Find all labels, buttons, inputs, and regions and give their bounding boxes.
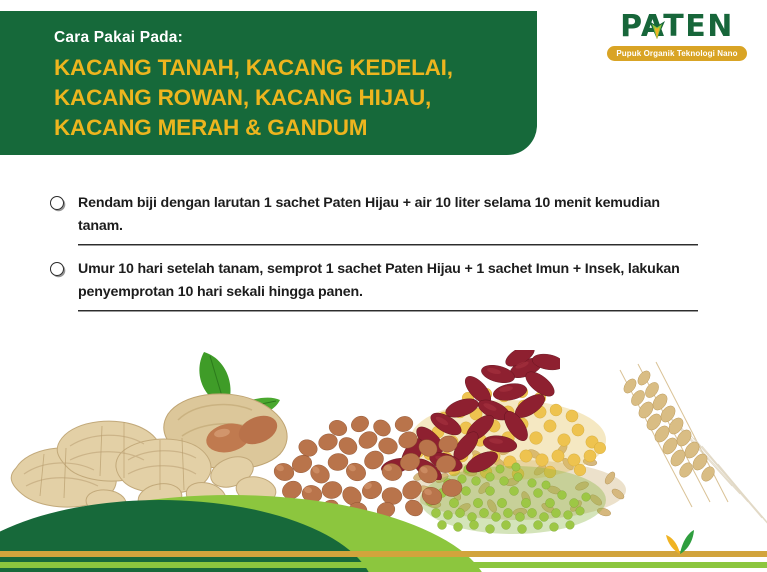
list-item-text: Rendam biji dengan larutan 1 sachet Pate… [78,192,700,238]
sprout-icon [665,528,695,554]
header-panel: Cara Pakai Pada: KACANG TANAH, KACANG KE… [0,11,537,155]
logo-wordmark: PATEN [607,12,747,42]
slide-canvas: Cara Pakai Pada: KACANG TANAH, KACANG KE… [0,0,767,572]
page-title: KACANG TANAH, KACANG KEDELAI, KACANG ROW… [54,53,537,144]
header-kicker: Cara Pakai Pada: [54,29,537,48]
instruction-list: Rendam biji dengan larutan 1 sachet Pate… [50,192,700,324]
circle-bullet-icon [50,262,64,276]
list-item-text: Umur 10 hari setelah tanam, semprot 1 sa… [78,258,700,304]
brand-logo: PATEN Pupuk Organik Teknologi Nano [607,12,747,61]
logo-tagline: Pupuk Organik Teknologi Nano [607,46,746,61]
footer-gold-rule [0,551,767,557]
footer-green-rule [0,562,767,568]
divider [78,310,698,312]
circle-bullet-icon [50,196,64,210]
list-item: Umur 10 hari setelah tanam, semprot 1 sa… [50,258,700,312]
list-item: Rendam biji dengan larutan 1 sachet Pate… [50,192,700,246]
produce-photo [0,330,767,572]
divider [78,244,698,246]
leaf-icon [646,15,668,40]
